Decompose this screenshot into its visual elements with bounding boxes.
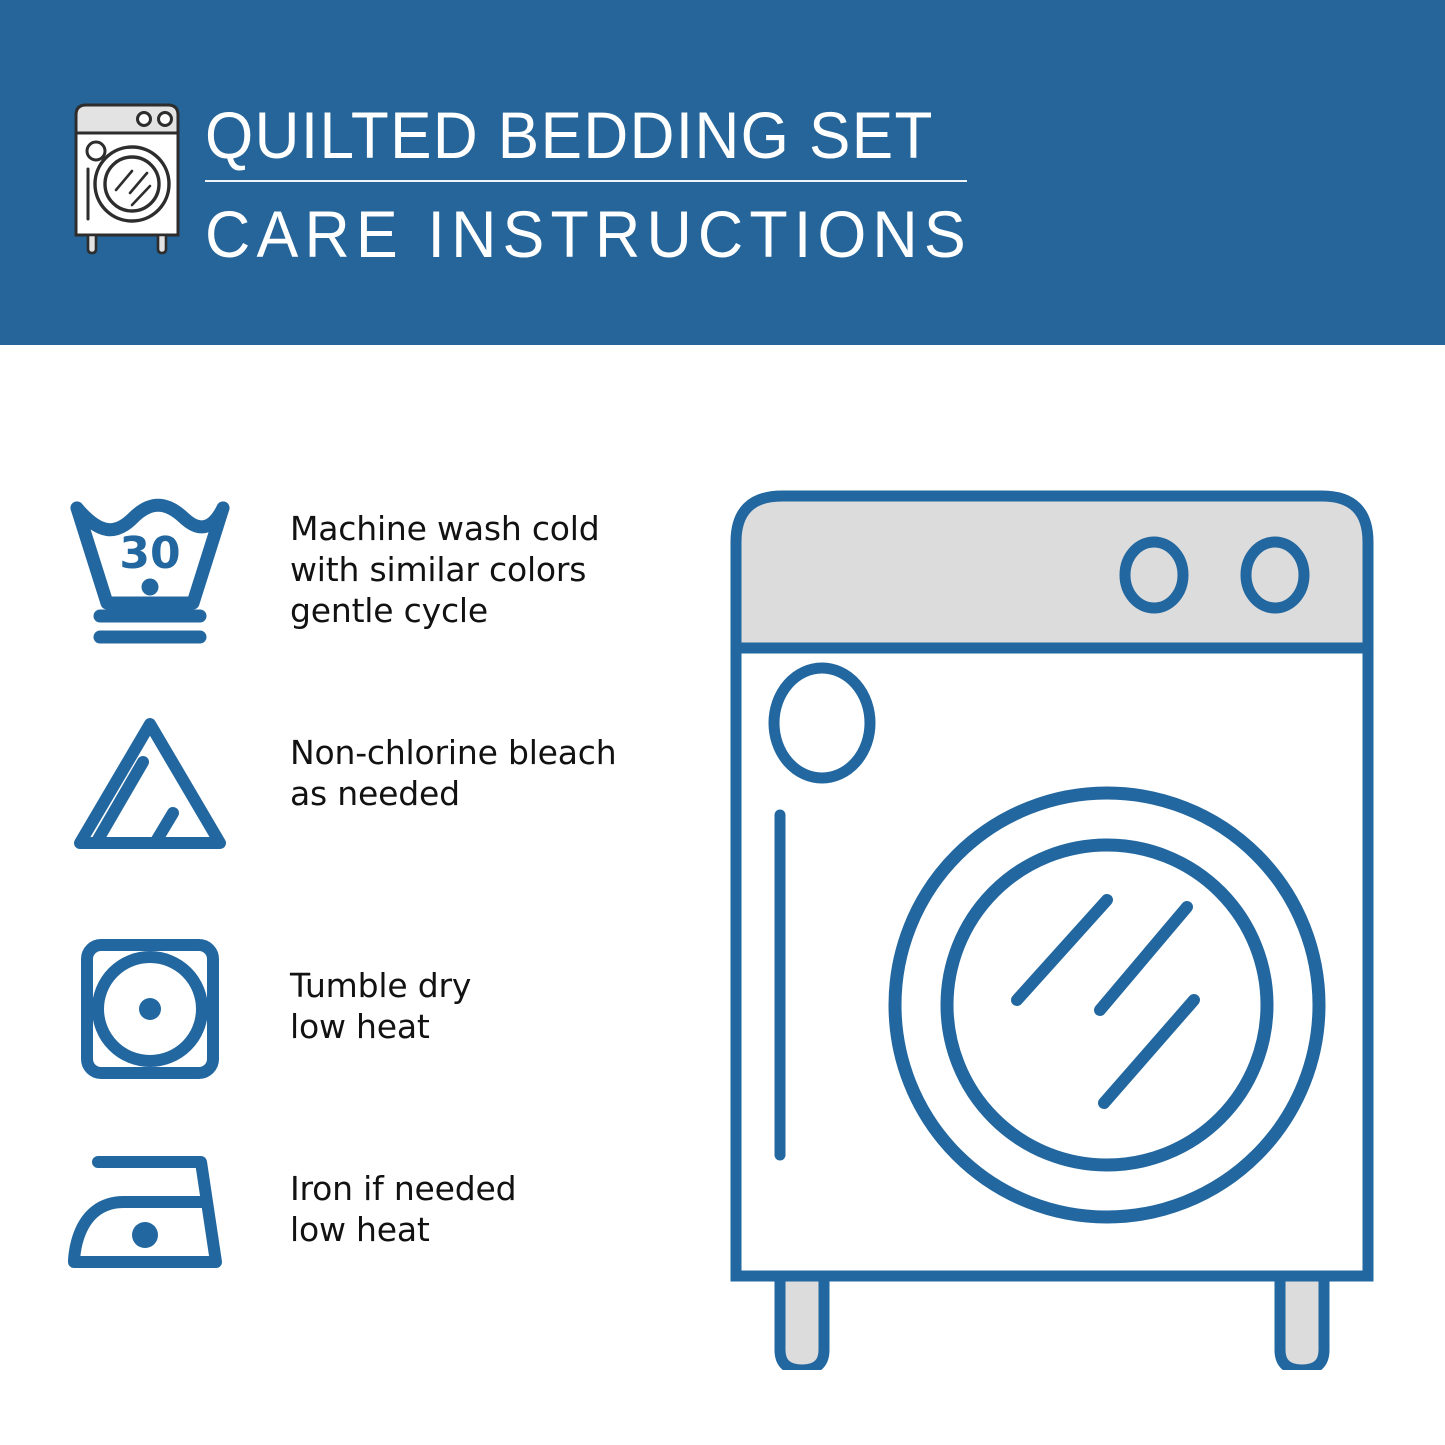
care-instruction-label: Iron if needed low heat [240, 1140, 690, 1250]
care-instruction-label: Tumble dry low heat [240, 935, 690, 1047]
non-chlorine-bleach-triangle-icon [60, 710, 240, 860]
page-title: QUILTED BEDDING SET [205, 98, 948, 172]
header-text-block: QUILTED BEDDING SET CARE INSTRUCTIONS [205, 98, 995, 270]
care-instructions-page: QUILTED BEDDING SET CARE INSTRUCTIONS [0, 0, 1445, 1445]
tumble-dry-low-icon [60, 935, 240, 1085]
care-instruction-item: Non-chlorine bleach as needed [60, 710, 690, 860]
care-instruction-label: Machine wash cold with similar colors ge… [240, 490, 690, 631]
care-instruction-item: 30 Machine wash cold with similar colors… [60, 490, 690, 650]
wash-temperature-value: 30 [119, 528, 180, 579]
washing-machine-logo-icon [62, 97, 192, 257]
care-instruction-item: Tumble dry low heat [60, 935, 690, 1085]
title-divider [205, 180, 967, 182]
care-instruction-label: Non-chlorine bleach as needed [240, 710, 690, 814]
care-instruction-list: 30 Machine wash cold with similar colors… [0, 345, 700, 1445]
care-instruction-item: Iron if needed low heat [60, 1140, 690, 1285]
front-load-washing-machine-illustration [722, 470, 1382, 1370]
wash-tub-30-gentle-icon: 30 [60, 490, 240, 650]
page-subtitle: CARE INSTRUCTIONS [205, 198, 956, 270]
header-band: QUILTED BEDDING SET CARE INSTRUCTIONS [0, 0, 1445, 345]
iron-low-heat-icon [60, 1140, 240, 1285]
